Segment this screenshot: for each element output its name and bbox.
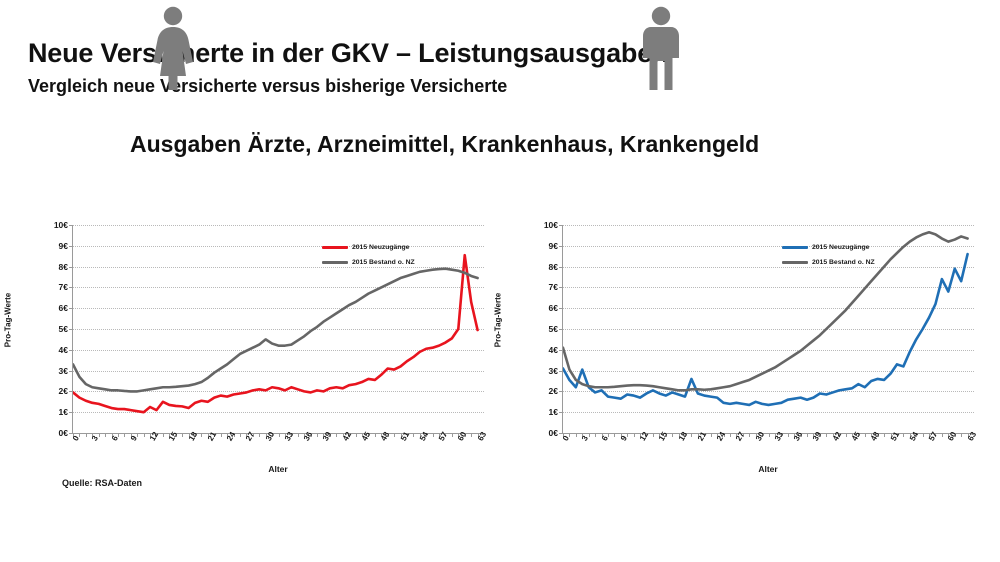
x-axis-tick xyxy=(576,433,577,437)
y-axis-label: 2€ xyxy=(549,386,558,396)
series-line xyxy=(73,255,478,412)
y-axis-label: 5€ xyxy=(549,324,558,334)
x-axis-tick xyxy=(846,433,847,437)
x-axis-tick xyxy=(749,433,750,437)
y-axis-label: 10€ xyxy=(54,220,68,230)
x-axis-tick xyxy=(99,433,100,437)
series-canvas xyxy=(563,225,974,433)
x-axis-tick xyxy=(375,433,376,437)
x-axis-tick xyxy=(163,433,164,437)
x-axis-tick xyxy=(961,433,962,437)
legend-swatch-blue xyxy=(782,246,808,249)
x-axis-tick xyxy=(672,433,673,437)
x-axis-tick xyxy=(865,433,866,437)
x-axis-tick xyxy=(452,433,453,437)
x-axis-tick xyxy=(471,433,472,437)
y-axis-label: 4€ xyxy=(59,345,68,355)
page-title: Neue Versicherte in der GKV – Leistungsa… xyxy=(28,38,668,69)
y-axis-title-male: Pro-Tag-Werte xyxy=(494,293,503,347)
y-axis-label: 6€ xyxy=(59,303,68,313)
x-axis-tick xyxy=(413,433,414,437)
y-axis-label: 6€ xyxy=(549,303,558,313)
x-axis-tick xyxy=(394,433,395,437)
x-axis-tick xyxy=(124,433,125,437)
series-line xyxy=(563,232,968,390)
legend-male: 2015 Neuzugänge 2015 Bestand o. NZ xyxy=(782,240,875,270)
x-axis-tick xyxy=(201,433,202,437)
x-axis-tick xyxy=(144,433,145,437)
legend-swatch-gray xyxy=(782,261,808,264)
legend-swatch-gray xyxy=(322,261,348,264)
y-axis-label: 3€ xyxy=(549,366,558,376)
x-axis-tick xyxy=(711,433,712,437)
x-axis-tick xyxy=(884,433,885,437)
x-axis-tick xyxy=(221,433,222,437)
x-axis-tick xyxy=(903,433,904,437)
x-axis-tick xyxy=(569,433,570,437)
x-axis-tick xyxy=(356,433,357,437)
x-axis-tick xyxy=(433,433,434,437)
x-axis-tick xyxy=(589,433,590,437)
x-axis-title-male: Alter xyxy=(562,464,974,474)
y-axis-label: 8€ xyxy=(549,262,558,272)
legend-label: 2015 Neuzugänge xyxy=(352,244,409,251)
legend-item-bestand-male: 2015 Bestand o. NZ xyxy=(782,255,875,270)
y-axis-label: 2€ xyxy=(59,386,68,396)
x-axis-tick xyxy=(279,433,280,437)
x-axis-tick xyxy=(730,433,731,437)
y-axis-label: 3€ xyxy=(59,366,68,376)
female-pictogram-icon xyxy=(146,6,200,90)
x-axis-tick xyxy=(614,433,615,437)
x-axis-tick xyxy=(691,433,692,437)
chart-male: Pro-Tag-Werte 0€1€2€3€4€5€6€7€8€9€10€036… xyxy=(494,212,994,477)
x-axis-tick xyxy=(634,433,635,437)
x-axis-tick xyxy=(608,433,609,437)
x-axis-tick xyxy=(923,433,924,437)
series-canvas xyxy=(73,225,484,433)
x-axis-tick xyxy=(317,433,318,437)
y-axis-label: 7€ xyxy=(59,282,68,292)
male-pictogram-icon xyxy=(634,6,688,90)
legend-female: 2015 Neuzugänge 2015 Bestand o. NZ xyxy=(322,240,415,270)
x-axis-tick xyxy=(86,433,87,437)
slide-root: Neue Versicherte in der GKV – Leistungsa… xyxy=(0,0,1000,562)
legend-item-neuzugaenge-female: 2015 Neuzugänge xyxy=(322,240,415,255)
y-axis-label: 5€ xyxy=(59,324,68,334)
legend-item-bestand-female: 2015 Bestand o. NZ xyxy=(322,255,415,270)
x-axis-tick xyxy=(182,433,183,437)
series-line xyxy=(73,269,478,392)
y-axis-label: 0€ xyxy=(549,428,558,438)
legend-swatch-red xyxy=(322,246,348,249)
source-note: Quelle: RSA-Daten xyxy=(62,478,142,488)
y-axis-label: 8€ xyxy=(59,262,68,272)
x-axis-tick xyxy=(240,433,241,437)
x-axis-tick xyxy=(826,433,827,437)
x-axis-tick xyxy=(788,433,789,437)
x-axis-tick xyxy=(137,433,138,437)
x-axis-tick xyxy=(118,433,119,437)
y-axis-label: 7€ xyxy=(549,282,558,292)
y-axis-label: 9€ xyxy=(549,241,558,251)
x-axis-title-female: Alter xyxy=(72,464,484,474)
legend-item-neuzugaenge-male: 2015 Neuzugänge xyxy=(782,240,875,255)
x-axis-tick xyxy=(259,433,260,437)
x-axis-tick xyxy=(653,433,654,437)
section-headline: Ausgaben Ärzte, Arzneimittel, Krankenhau… xyxy=(130,131,759,158)
y-axis-label: 1€ xyxy=(59,407,68,417)
x-axis-tick xyxy=(105,433,106,437)
series-line xyxy=(563,254,968,405)
x-axis-tick xyxy=(807,433,808,437)
y-axis-label: 1€ xyxy=(549,407,558,417)
x-axis-tick xyxy=(769,433,770,437)
y-axis-label: 10€ xyxy=(544,220,558,230)
legend-label: 2015 Bestand o. NZ xyxy=(812,259,875,266)
y-axis-label: 4€ xyxy=(549,345,558,355)
legend-label: 2015 Bestand o. NZ xyxy=(352,259,415,266)
plot-area-female: 0€1€2€3€4€5€6€7€8€9€10€03691215182124273… xyxy=(72,225,484,434)
plot-area-male: 0€1€2€3€4€5€6€7€8€9€10€03691215182124273… xyxy=(562,225,974,434)
x-axis-tick xyxy=(298,433,299,437)
x-axis-tick xyxy=(595,433,596,437)
legend-label: 2015 Neuzugänge xyxy=(812,244,869,251)
y-axis-title-female: Pro-Tag-Werte xyxy=(4,293,13,347)
x-axis-tick xyxy=(942,433,943,437)
chart-female: Pro-Tag-Werte 0€1€2€3€4€5€6€7€8€9€10€036… xyxy=(4,212,504,477)
x-axis-tick xyxy=(79,433,80,437)
x-axis-tick xyxy=(336,433,337,437)
y-axis-label: 0€ xyxy=(59,428,68,438)
x-axis-tick xyxy=(627,433,628,437)
y-axis-label: 9€ xyxy=(59,241,68,251)
page-subtitle: Vergleich neue Versicherte versus bisher… xyxy=(28,76,507,97)
